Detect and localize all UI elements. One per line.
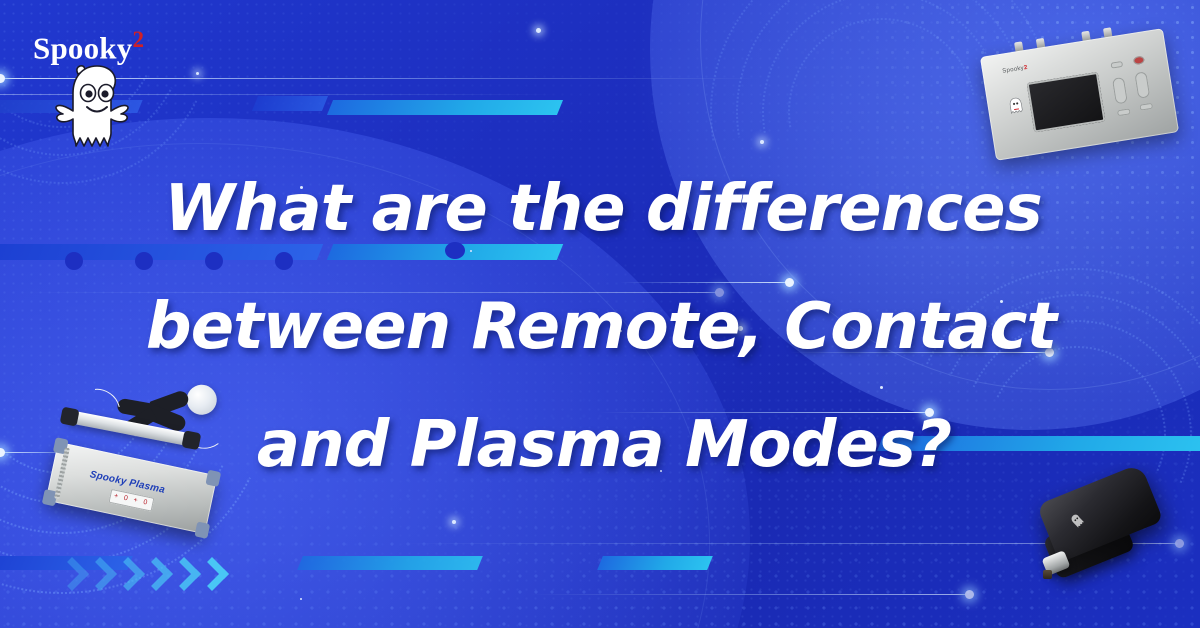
banner-canvas: Spooky2 What are the differences between… bbox=[0, 0, 1200, 628]
chevron-arrow-group bbox=[60, 562, 224, 586]
accent-bar bbox=[327, 100, 563, 115]
glow-streak bbox=[400, 543, 1180, 544]
sparkle bbox=[452, 520, 456, 524]
ghost-mascot-icon bbox=[51, 60, 143, 150]
sparkle bbox=[536, 28, 541, 33]
chevron-right-icon bbox=[195, 557, 229, 591]
sparkle bbox=[760, 140, 764, 144]
headline: What are the differences between Remote,… bbox=[0, 150, 1200, 504]
headline-line-3: and Plasma Modes? bbox=[0, 386, 1200, 504]
generator-lcd-screen bbox=[1027, 72, 1106, 133]
remote-bnc-connector bbox=[1042, 550, 1071, 576]
remote-lower-shell bbox=[1043, 508, 1136, 580]
generator-body: Spooky2 bbox=[980, 28, 1179, 161]
glow-streak bbox=[530, 594, 970, 595]
brand-logo[interactable]: Spooky2 bbox=[33, 28, 183, 63]
product-generator: Spooky2 bbox=[980, 28, 1179, 161]
headline-line-2: between Remote, Contact bbox=[0, 268, 1200, 386]
generator-ghost-icon bbox=[1007, 95, 1026, 117]
sparkle bbox=[300, 598, 302, 600]
accent-bar bbox=[597, 556, 713, 570]
accent-bar bbox=[297, 556, 483, 570]
remote-connector-pin bbox=[1043, 570, 1052, 579]
remote-ghost-icon bbox=[1068, 511, 1088, 532]
headline-line-1: What are the differences bbox=[0, 150, 1200, 268]
brand-logo-superscript: 2 bbox=[132, 27, 144, 52]
brand-logo-text: Spooky2 bbox=[33, 28, 183, 63]
generator-brand-mark: Spooky2 bbox=[1002, 65, 1028, 75]
sparkle bbox=[196, 72, 199, 75]
accent-bar bbox=[252, 96, 328, 111]
